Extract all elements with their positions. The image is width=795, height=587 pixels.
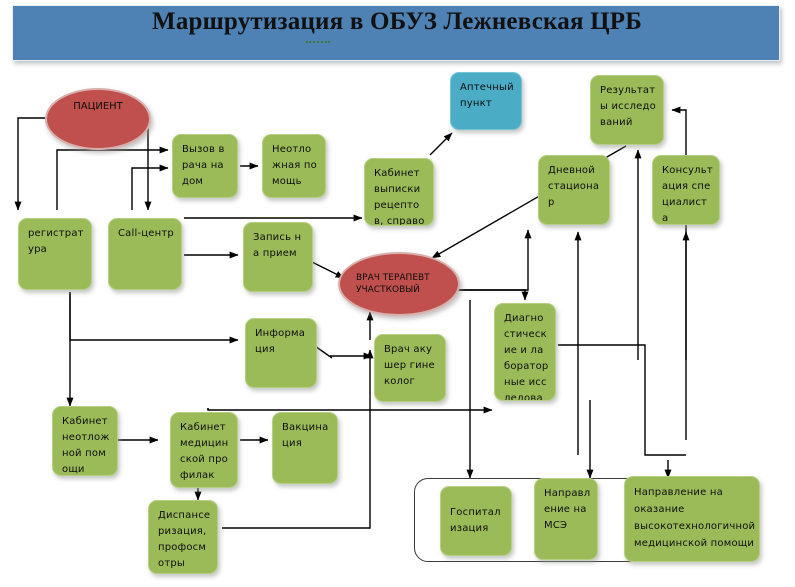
node-urgent-care-label: Неотложная помощь	[263, 135, 325, 194]
title-banner: Маршрутизация в ОБУЗ Лежневская ЦРБ	[12, 5, 780, 61]
node-call-center-label: Call-центр	[109, 219, 180, 246]
node-urgent-room[interactable]: Кабинет неотложной помощи	[52, 406, 118, 476]
node-mse-referral[interactable]: Направление на МСЭ	[534, 478, 598, 560]
node-gynecologist-label: Врач акушер гинеколог	[375, 335, 445, 394]
node-day-hospital[interactable]: Дневной стационар	[538, 155, 610, 225]
node-patient[interactable]: ПАЦИЕНТ	[45, 88, 151, 150]
node-house-call-label: Вызов врача на дом	[173, 135, 237, 194]
node-prevention[interactable]: Кабинет медицинской профилак	[170, 412, 238, 488]
node-day-hospital-label: Дневной стационар	[539, 156, 609, 215]
node-specialist[interactable]: Консультация специалиста	[652, 155, 720, 225]
node-urgent-room-label: Кабинет неотложной помощи	[53, 407, 117, 476]
node-checkups[interactable]: Диспансеризация, профосмотры	[148, 500, 218, 574]
node-patient-label: ПАЦИЕНТ	[47, 99, 149, 115]
node-therapist-label: ВРАЧ ТЕРАПЕВТ УЧАСТКОВЫЙ	[340, 272, 458, 296]
diagram-canvas: Маршрутизация в ОБУЗ Лежневская ЦРБ	[0, 0, 795, 587]
node-appointment[interactable]: Запись на прием	[243, 222, 313, 292]
node-registry-label: регистратура	[19, 219, 91, 262]
node-appointment-label: Запись на прием	[244, 223, 312, 266]
node-registry[interactable]: регистратура	[18, 218, 92, 290]
node-vmp-referral-label: Направление на оказание высокотехнологич…	[625, 477, 760, 556]
node-diagnostics-label: Диагностические и лабораторные исследова…	[495, 304, 555, 401]
node-gynecologist[interactable]: Врач акушер гинеколог	[374, 334, 446, 402]
node-information[interactable]: Информация	[245, 318, 317, 388]
node-checkups-label: Диспансеризация, профосмотры	[149, 501, 217, 574]
node-study-results-label: Результаты исследований	[591, 76, 663, 135]
node-study-results[interactable]: Результаты исследований	[590, 75, 664, 145]
node-hospitalization-label: Госпитализация	[441, 487, 511, 541]
page-title: Маршрутизация в ОБУЗ Лежневская ЦРБ	[13, 8, 781, 36]
node-vaccination-label: Вакцинация	[273, 413, 337, 456]
node-pharmacy-label: Аптечный пункт	[451, 73, 521, 116]
node-prescriptions[interactable]: Кабинет выписки рецептов, справок	[364, 158, 434, 226]
node-prevention-label: Кабинет медицинской профилак	[171, 413, 237, 488]
spellcheck-underline	[306, 38, 330, 43]
node-therapist[interactable]: ВРАЧ ТЕРАПЕВТ УЧАСТКОВЫЙ	[338, 252, 460, 316]
node-pharmacy[interactable]: Аптечный пункт	[450, 72, 522, 130]
node-prescriptions-label: Кабинет выписки рецептов, справок	[365, 159, 433, 226]
node-vmp-referral[interactable]: Направление на оказание высокотехнологич…	[624, 476, 760, 562]
node-house-call[interactable]: Вызов врача на дом	[172, 134, 238, 198]
node-hospitalization[interactable]: Госпитализация	[440, 486, 512, 556]
node-urgent-care[interactable]: Неотложная помощь	[262, 134, 326, 198]
node-mse-referral-label: Направление на МСЭ	[535, 479, 597, 538]
node-information-label: Информация	[246, 319, 316, 362]
node-diagnostics[interactable]: Диагностические и лабораторные исследова…	[494, 303, 556, 401]
node-specialist-label: Консультация специалиста	[653, 156, 719, 225]
node-call-center[interactable]: Call-центр	[108, 218, 182, 290]
node-vaccination[interactable]: Вакцинация	[272, 412, 338, 484]
